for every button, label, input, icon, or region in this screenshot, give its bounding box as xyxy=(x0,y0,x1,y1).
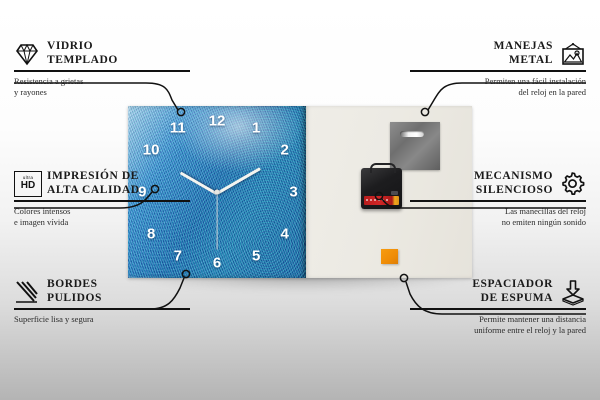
callout-header: MANEJAS METAL xyxy=(396,40,586,67)
callout-rule xyxy=(14,200,190,202)
callout-bordes-pulidos: BORDES PULIDOS Superficie lisa y segura xyxy=(14,278,204,325)
clock-number-2: 2 xyxy=(280,143,288,158)
callout-rule xyxy=(410,200,586,202)
callout-rule xyxy=(14,308,190,310)
callout-header: MECANISMO SILENCIOSO xyxy=(396,170,586,197)
callout-espaciador-de-espuma: ESPACIADOR DE ESPUMA Permite mantener un… xyxy=(396,278,586,336)
clock-number-8: 8 xyxy=(147,227,155,242)
clock-number-10: 10 xyxy=(143,143,160,158)
clock-number-7: 7 xyxy=(174,249,182,264)
clock-second-hand xyxy=(216,193,217,250)
callout-manejas-metal: MANEJAS METAL Permiten una fácil instala… xyxy=(396,40,586,98)
callout-rule xyxy=(410,308,586,310)
callout-impresion-alta-calidad: ultra HD IMPRESIÓN DE ALTA CALIDAD Color… xyxy=(14,170,204,228)
infographic-canvas: 12 1 2 3 4 5 6 7 8 9 10 11 xyxy=(0,0,600,400)
clock-center-cap xyxy=(215,190,220,195)
callout-title: MECANISMO SILENCIOSO xyxy=(474,170,553,197)
callout-header: ESPACIADOR DE ESPUMA xyxy=(396,278,586,305)
callout-title: MANEJAS METAL xyxy=(494,40,553,67)
callout-title: VIDRIO TEMPLADO xyxy=(47,40,118,67)
battery-part xyxy=(364,196,399,205)
callout-header: VIDRIO TEMPLADO xyxy=(14,40,204,67)
callout-rule xyxy=(410,70,586,72)
mechanism-bail xyxy=(370,163,396,173)
foam-spacer-part xyxy=(381,249,398,264)
clock-number-4: 4 xyxy=(280,227,288,242)
picture-frame-hanger-icon xyxy=(560,41,586,67)
callout-header: BORDES PULIDOS xyxy=(14,278,204,305)
callout-title: IMPRESIÓN DE ALTA CALIDAD xyxy=(47,170,140,197)
clock-minute-hand xyxy=(216,167,261,195)
clock-number-11: 11 xyxy=(170,121,186,136)
callout-title: ESPACIADOR DE ESPUMA xyxy=(472,278,553,305)
callout-header: ultra HD IMPRESIÓN DE ALTA CALIDAD xyxy=(14,170,204,197)
clock-number-5: 5 xyxy=(252,249,260,264)
callout-mecanismo-silencioso: MECANISMO SILENCIOSO Las manecillas del … xyxy=(396,170,586,228)
callout-title: BORDES PULIDOS xyxy=(47,278,102,305)
clock-number-12: 12 xyxy=(209,114,226,129)
clock-number-1: 1 xyxy=(252,121,260,136)
callout-rule xyxy=(14,70,190,72)
callout-vidrio-templado: VIDRIO TEMPLADO Resistencia a grietas y … xyxy=(14,40,204,98)
polished-edges-icon xyxy=(14,279,40,305)
diamond-icon xyxy=(14,41,40,67)
foam-spacer-icon xyxy=(560,279,586,305)
clock-number-3: 3 xyxy=(289,185,297,200)
metal-hanger-part xyxy=(390,122,440,170)
ultra-hd-icon: ultra HD xyxy=(14,171,40,197)
clock-number-6: 6 xyxy=(213,256,221,271)
gear-icon xyxy=(560,171,586,197)
